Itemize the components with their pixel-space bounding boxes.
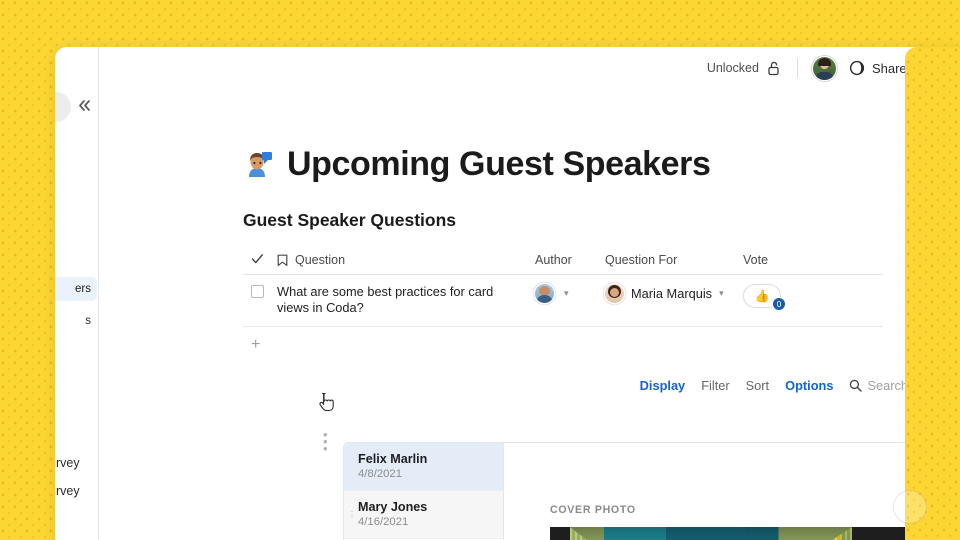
row-question-for-name: Maria Marquis <box>631 286 712 301</box>
page-title: Upcoming Guest Speakers <box>287 145 711 184</box>
table-header-row: Question Author Question For Vote <box>243 253 883 275</box>
header-label-question-for: Question For <box>605 253 677 267</box>
sidebar-subitem-label: urvey <box>55 484 80 498</box>
card-date: 4/16/2021 <box>358 516 493 528</box>
row-question-for-cell[interactable]: Maria Marquis ▾ <box>605 284 743 303</box>
top-toolbar: Unlocked Share <box>99 47 960 89</box>
cover-photo-image[interactable] <box>550 527 935 540</box>
card-date: 4/8/2021 <box>358 468 493 480</box>
row-checkbox-cell <box>243 284 277 298</box>
view-drag-handle[interactable]: • • • <box>323 431 328 452</box>
card-name: Felix Marlin <box>358 452 493 466</box>
question-for-avatar <box>605 284 624 303</box>
sidebar-item-0[interactable]: ers <box>55 277 97 301</box>
list-item[interactable]: ⋮ Mary Jones 4/16/2021 <box>344 491 503 539</box>
search-placeholder: Search <box>867 378 908 393</box>
cover-photo-ceiling <box>570 527 852 540</box>
vote-button[interactable]: 👍 0 <box>743 284 781 308</box>
table-row[interactable]: What are some best practices for card vi… <box>243 275 883 327</box>
sidebar-subitem-0[interactable]: urvey <box>55 456 80 470</box>
view-toolbar: Display Filter Sort Options Search <box>640 378 908 393</box>
checkmark-icon <box>251 253 264 265</box>
filter-button[interactable]: Filter <box>701 378 729 393</box>
header-cell-question[interactable]: Question <box>277 253 535 267</box>
card-list: Felix Marlin 4/8/2021 ⋮ Mary Jones 4/16/… <box>344 443 504 540</box>
card-name: Mary Jones <box>358 500 493 514</box>
card-detail-pane: ⋮ COVER PHOTO <box>504 443 960 540</box>
header-label-vote: Vote <box>743 253 768 267</box>
header-cell-author[interactable]: Author <box>535 253 605 267</box>
questions-table: Question Author Question For Vote <box>243 253 883 327</box>
sidebar-subitem-label: urvey <box>55 456 80 470</box>
sidebar-item-label: ers <box>75 283 91 295</box>
app-window: s ers s urvey urvey roject Unlocked <box>55 47 960 540</box>
header-cell-check <box>243 253 277 265</box>
header-label-author: Author <box>535 253 572 267</box>
open-lock-icon <box>767 61 781 76</box>
row-author-cell[interactable]: ▾ <box>535 284 605 303</box>
share-label: Share <box>872 61 907 76</box>
thumbs-up-icon: 👍 <box>755 290 770 302</box>
add-row-button[interactable]: + <box>243 336 263 354</box>
section-title: Guest Speaker Questions <box>243 210 960 231</box>
share-button[interactable]: Share <box>849 60 907 76</box>
display-button[interactable]: Display <box>640 378 686 393</box>
vertical-dots-handle-icon[interactable]: ⋮ <box>348 512 356 518</box>
row-question-text: What are some best practices for card vi… <box>277 284 527 315</box>
chevron-down-icon[interactable]: ▾ <box>564 288 569 299</box>
sidebar-collapse-button[interactable] <box>77 99 92 115</box>
bookmark-icon <box>277 254 288 267</box>
avatar[interactable] <box>812 56 837 81</box>
header-label-question: Question <box>295 253 345 267</box>
sidebar-avatar[interactable] <box>55 92 71 122</box>
header-cell-vote[interactable]: Vote <box>743 253 813 267</box>
double-chevron-left-icon <box>77 99 92 112</box>
left-sidebar: s ers s urvey urvey roject <box>55 47 99 540</box>
options-button[interactable]: Options <box>785 378 833 393</box>
author-avatar <box>535 284 554 303</box>
vote-count-badge: 0 <box>772 297 786 311</box>
document-body: Upcoming Guest Speakers Guest Speaker Qu… <box>99 89 960 540</box>
dot: ⋮ <box>348 512 356 518</box>
speaking-head-emoji <box>243 150 273 180</box>
window-right-edge-mask <box>905 47 960 540</box>
magnifier-icon <box>849 379 862 392</box>
chevron-down-icon[interactable]: ▾ <box>719 288 724 299</box>
edge-circle-decoration <box>893 490 927 524</box>
row-question-cell[interactable]: What are some best practices for card vi… <box>277 284 535 315</box>
toolbar-divider <box>797 58 798 78</box>
row-vote-cell: 👍 0 <box>743 284 813 308</box>
list-item[interactable]: Felix Marlin 4/8/2021 <box>344 443 503 491</box>
share-globe-icon <box>849 60 865 76</box>
main-area: Unlocked Share <box>99 47 960 540</box>
header-cell-question-for[interactable]: Question For <box>605 253 743 267</box>
title-row: Upcoming Guest Speakers <box>243 145 960 184</box>
sidebar-subitem-1[interactable]: urvey <box>55 484 80 498</box>
dot: • <box>323 445 328 452</box>
sidebar-item-label: s <box>85 315 91 327</box>
lock-status[interactable]: Unlocked <box>707 61 781 76</box>
card-view-panel: Felix Marlin 4/8/2021 ⋮ Mary Jones 4/16/… <box>343 442 960 540</box>
cover-photo-label: COVER PHOTO <box>550 504 636 516</box>
sort-button[interactable]: Sort <box>746 378 769 393</box>
sidebar-item-1[interactable]: s <box>55 309 97 333</box>
lock-status-label: Unlocked <box>707 61 759 75</box>
row-checkbox[interactable] <box>251 285 264 298</box>
search-input[interactable]: Search <box>849 378 908 393</box>
